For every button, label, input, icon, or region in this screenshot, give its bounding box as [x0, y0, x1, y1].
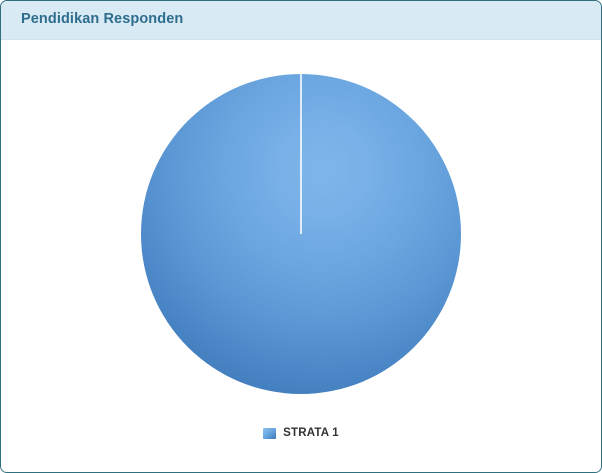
chart-canvas: STRATA 1: [1, 40, 601, 472]
page-title: Pendidikan Responden: [21, 11, 183, 27]
card-header: Pendidikan Responden: [1, 1, 602, 40]
legend-swatch-icon: [263, 428, 276, 439]
chart-legend: STRATA 1: [1, 418, 601, 448]
pie-chart: [141, 74, 461, 394]
chart-card: Pendidikan Responden STRATA 1: [0, 0, 602, 473]
pie-slice-divider: [300, 74, 302, 234]
legend-item-strata-1[interactable]: STRATA 1: [263, 427, 339, 439]
legend-item-label: STRATA 1: [283, 427, 339, 439]
